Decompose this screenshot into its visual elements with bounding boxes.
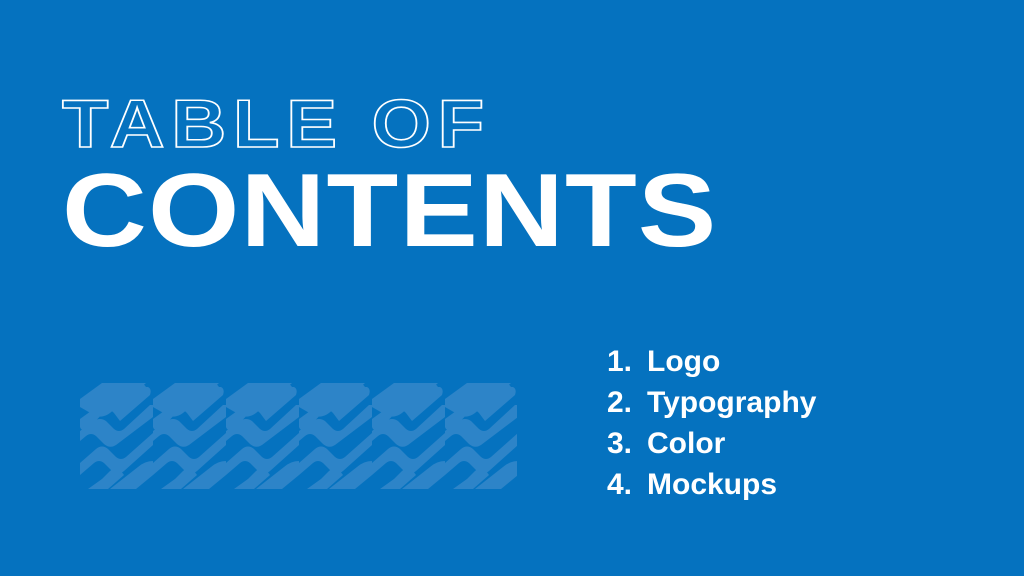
list-item-label: Mockups <box>647 464 777 505</box>
list-item-number: 3. <box>607 423 647 464</box>
diagonal-stripe-pattern-svg <box>80 383 517 489</box>
list-item[interactable]: 2. Typography <box>607 382 816 423</box>
list-item-label: Logo <box>647 341 720 382</box>
slide-canvas: TABLE OF CONTENTS <box>0 0 1024 576</box>
page-title: TABLE OF CONTENTS <box>62 92 962 260</box>
title-line-solid: CONTENTS <box>62 164 1024 260</box>
diagonal-stripe-pattern-icon <box>80 383 517 489</box>
list-item-label: Color <box>647 423 725 464</box>
list-item[interactable]: 3. Color <box>607 423 816 464</box>
list-item-label: Typography <box>647 382 816 423</box>
list-item[interactable]: 1. Logo <box>607 341 816 382</box>
title-line-outline: TABLE OF <box>62 92 1024 158</box>
agenda-list: 1. Logo 2. Typography 3. Color 4. Mockup… <box>607 341 816 505</box>
list-item-number: 4. <box>607 464 647 505</box>
list-item-number: 2. <box>607 382 647 423</box>
list-item[interactable]: 4. Mockups <box>607 464 816 505</box>
list-item-number: 1. <box>607 341 647 382</box>
